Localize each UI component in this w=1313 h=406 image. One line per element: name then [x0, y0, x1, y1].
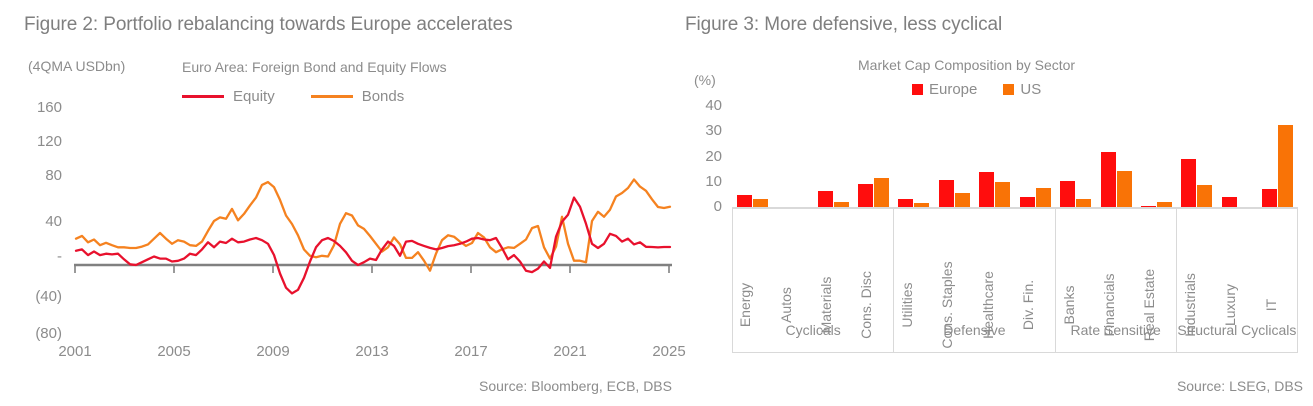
bar-group-industrials: [1177, 103, 1217, 207]
figure-2-ytick-80: 80: [8, 167, 62, 184]
figure-3-ytick-40: 40: [680, 97, 722, 114]
figure-2-xtick-2017: 2017: [441, 343, 501, 360]
figure-3-subtitle: Market Cap Composition by Sector: [858, 57, 1075, 73]
figure-2-xtick-2013: 2013: [342, 343, 402, 360]
bar-group-div-fin: [1015, 103, 1055, 207]
series-line-equity: [76, 198, 670, 294]
figure-2-y-unit-label: (4QMA USDbn): [28, 58, 125, 74]
bar-us-div-fin[interactable]: [1036, 188, 1051, 208]
figure-3-legend: Europe US: [912, 81, 1041, 98]
bar-group-real-estate: [1136, 103, 1176, 207]
bar-europe-cons-disc[interactable]: [858, 184, 873, 207]
bar-group-autos: [772, 103, 812, 207]
figure-2-subtitle: Euro Area: Foreign Bond and Equity Flows: [182, 59, 447, 75]
bar-group-luxury: [1217, 103, 1257, 207]
figure-3-title: Figure 3: More defensive, less cyclical: [685, 14, 1002, 36]
bar-us-it[interactable]: [1278, 125, 1293, 207]
figure-2-ytick-120: 120: [8, 133, 62, 150]
figure-2-ytick-160: 160: [8, 99, 62, 116]
category-label: Banks: [1062, 286, 1076, 325]
bar-europe-energy[interactable]: [737, 195, 752, 207]
category-label: Autos: [779, 287, 793, 323]
category-label: Luxury: [1223, 284, 1237, 326]
bar-group-cons-disc: [853, 103, 893, 207]
category-cell: Industrials: [1177, 208, 1217, 308]
bar-us-cons-disc[interactable]: [874, 178, 889, 207]
figure-3-category-labels: EnergyAutosMaterialsCons. DiscUtilitiesC…: [732, 208, 1298, 308]
legend-item-us[interactable]: US: [1003, 81, 1041, 98]
figure-3-ytick-10: 10: [680, 173, 722, 190]
category-label: IT: [1264, 299, 1278, 311]
category-cell: Autos: [772, 208, 812, 308]
figure-3-ytick-0: 0: [680, 198, 722, 215]
bar-europe-luxury[interactable]: [1222, 197, 1237, 207]
category-cell: Banks: [1055, 208, 1095, 308]
category-label: Materials: [819, 277, 833, 334]
category-label: Cons. Disc: [859, 271, 873, 339]
bar-us-cons-staples[interactable]: [955, 193, 970, 207]
category-label: Utilities: [900, 282, 914, 327]
bar-group-healthcare: [975, 103, 1015, 207]
bar-europe-healthcare[interactable]: [979, 172, 994, 207]
bar-group-it: [1257, 103, 1297, 207]
bar-us-energy[interactable]: [753, 199, 768, 207]
figure-2-plot-area: [74, 95, 672, 265]
figure-2-svg: [74, 95, 672, 265]
category-cell: Luxury: [1217, 208, 1257, 308]
bar-europe-div-fin[interactable]: [1020, 197, 1035, 207]
bar-group-materials: [813, 103, 853, 207]
legend-swatch-europe-icon: [912, 84, 923, 95]
figure-2-source: Source: Bloomberg, ECB, DBS: [479, 378, 672, 394]
figure-2-ytick-0: -: [8, 248, 62, 265]
figure-2-ytick-neg80: (80): [8, 325, 62, 342]
figure-3-plot-area: [732, 103, 1298, 207]
category-label: Cons. Staples: [940, 261, 954, 348]
legend-item-europe[interactable]: Europe: [912, 81, 977, 98]
bar-europe-industrials[interactable]: [1181, 159, 1196, 207]
category-label: Real Estate: [1142, 269, 1156, 341]
bar-europe-utilities[interactable]: [898, 199, 913, 207]
bar-europe-financials[interactable]: [1101, 152, 1116, 207]
category-label: Industrials: [1183, 273, 1197, 337]
legend-swatch-us-icon: [1003, 84, 1014, 95]
figure-3-ytick-30: 30: [680, 122, 722, 139]
category-label: Healthcare: [981, 271, 995, 339]
bar-europe-banks[interactable]: [1060, 181, 1075, 207]
bar-europe-cons-staples[interactable]: [939, 180, 954, 207]
figure-2-ytick-40: 40: [8, 213, 62, 230]
bar-us-banks[interactable]: [1076, 199, 1091, 207]
bar-group-banks: [1055, 103, 1095, 207]
series-line-bonds: [76, 180, 670, 271]
bar-europe-materials[interactable]: [818, 191, 833, 207]
figure-3-ytick-20: 20: [680, 148, 722, 165]
figure-2-title: Figure 2: Portfolio rebalancing towards …: [24, 14, 512, 36]
category-label: Financials: [1102, 273, 1116, 336]
bar-europe-it[interactable]: [1262, 189, 1277, 207]
legend-label-europe: Europe: [929, 81, 977, 98]
category-cell: Cons. Disc: [853, 208, 893, 308]
bar-group-cons-staples: [934, 103, 974, 207]
category-cell: Cons. Staples: [934, 208, 974, 308]
bar-group-energy: [732, 103, 772, 207]
category-cell: Financials: [1096, 208, 1136, 308]
figure-3-bar-chart: Figure 3: More defensive, less cyclical …: [680, 0, 1313, 406]
figures-page: Figure 2: Portfolio rebalancing towards …: [0, 0, 1313, 406]
figure-2-ytick-neg40: (40): [8, 288, 62, 305]
figure-2-xtick-2021: 2021: [540, 343, 600, 360]
x-axis-ticks: [75, 265, 669, 273]
figure-2-line-chart: Figure 2: Portfolio rebalancing towards …: [0, 0, 690, 406]
bar-us-healthcare[interactable]: [995, 182, 1010, 207]
bar-us-financials[interactable]: [1117, 171, 1132, 207]
figure-2-xtick-2005: 2005: [144, 343, 204, 360]
category-cell: Real Estate: [1136, 208, 1176, 308]
bar-us-industrials[interactable]: [1197, 185, 1212, 207]
figure-2-xtick-2001: 2001: [45, 343, 105, 360]
category-label: Energy: [738, 283, 752, 327]
category-cell: Utilities: [894, 208, 934, 308]
category-cell: Healthcare: [975, 208, 1015, 308]
figure-2-xtick-2009: 2009: [243, 343, 303, 360]
category-cell: IT: [1257, 208, 1297, 308]
figure-3-y-unit-label: (%): [694, 72, 716, 88]
bar-group-financials: [1096, 103, 1136, 207]
legend-label-us: US: [1020, 81, 1041, 98]
category-cell: Materials: [813, 208, 853, 308]
bar-group-utilities: [894, 103, 934, 207]
category-label: Div. Fin.: [1021, 280, 1035, 330]
category-cell: Energy: [732, 208, 772, 308]
category-cell: Div. Fin.: [1015, 208, 1055, 308]
figure-3-source: Source: LSEG, DBS: [1177, 378, 1303, 394]
